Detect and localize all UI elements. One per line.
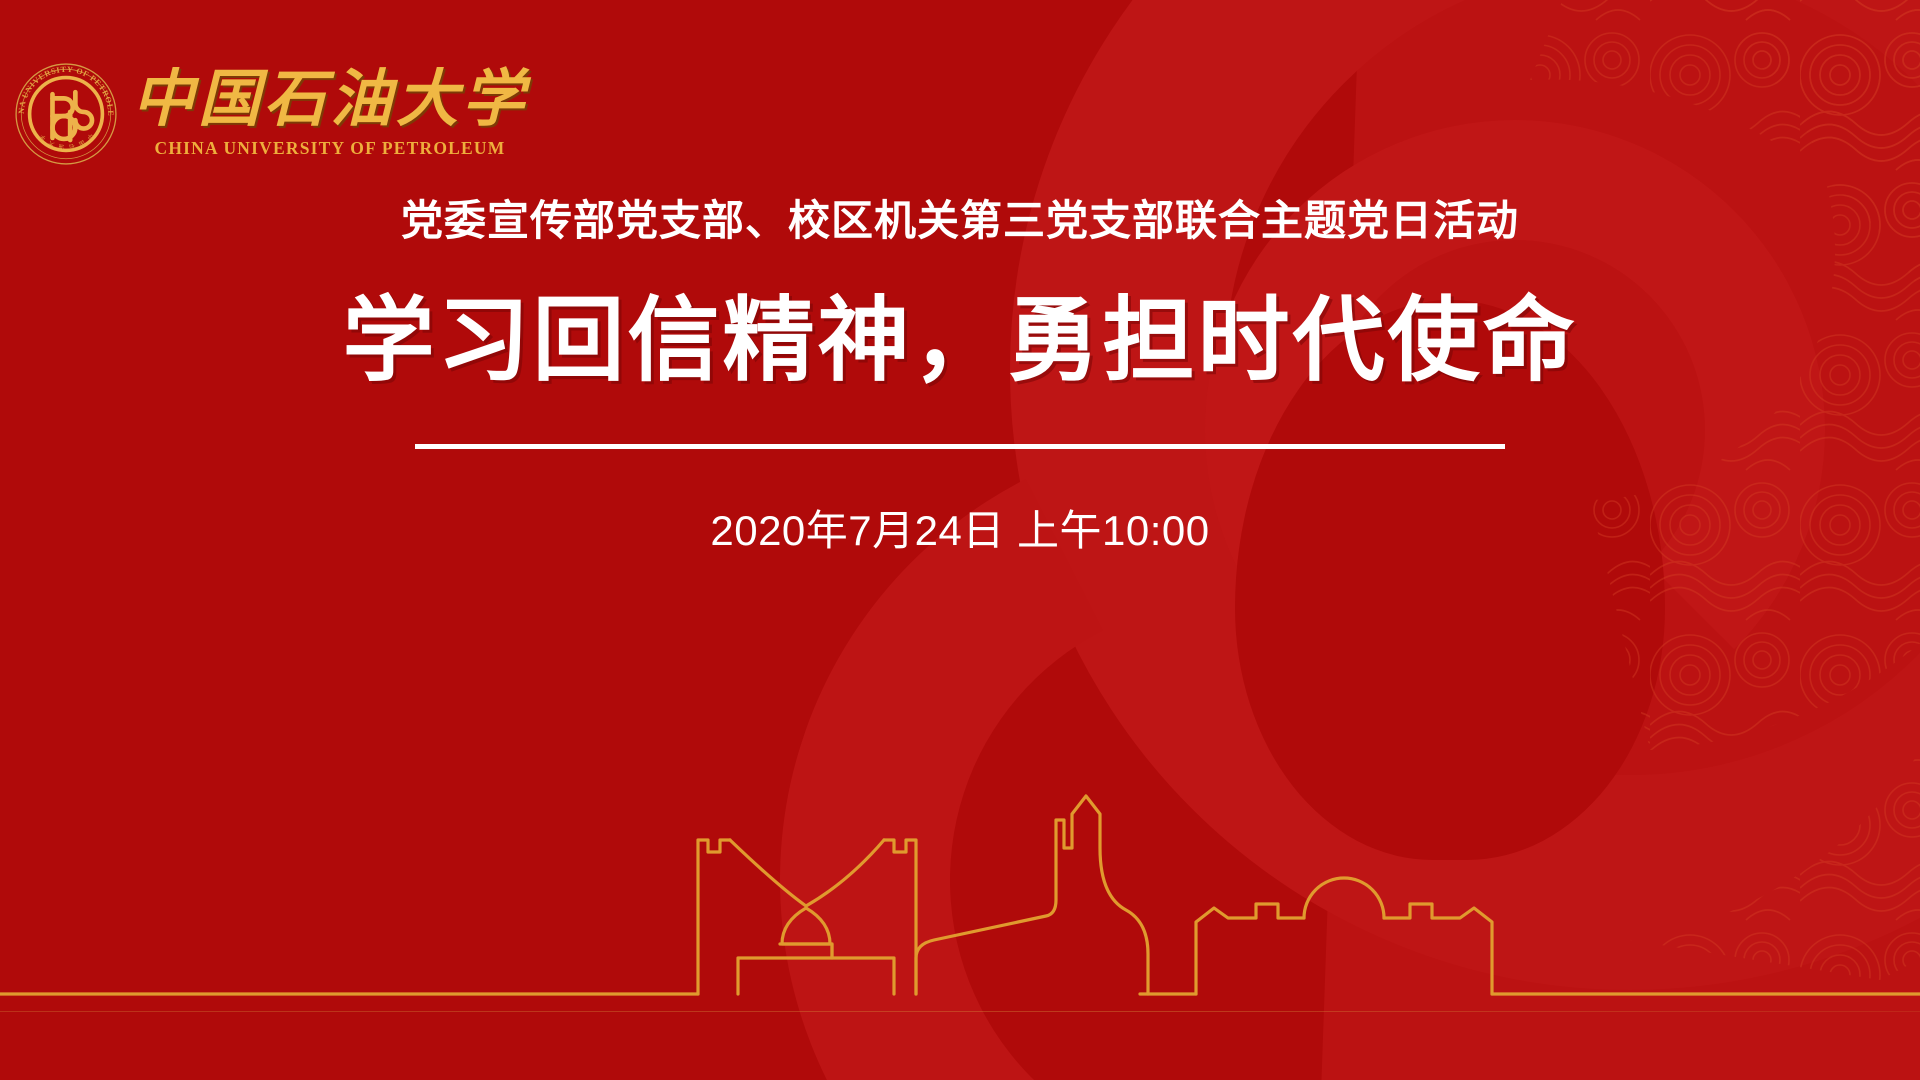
headline-block: 党委宣传部党支部、校区机关第三党支部联合主题党日活动 学习回信精神，勇担时代使命… bbox=[0, 196, 1920, 558]
page-title: 学习回信精神，勇担时代使命 bbox=[0, 292, 1920, 391]
event-datetime: 2020年7月24日 上午10:00 bbox=[0, 497, 1920, 558]
title-divider bbox=[415, 444, 1505, 449]
logo-name-en: CHINA UNIVERSITY OF PETROLEUM bbox=[155, 138, 506, 159]
university-seal-icon: CHINA UNIVERSITY OF PETROLEUM 中 国 石 油 大 … bbox=[14, 62, 118, 166]
logo-name-cn: 中国石油大学 bbox=[132, 69, 528, 131]
logo-wordmark: 中国石油大学 CHINA UNIVERSITY OF PETROLEUM bbox=[132, 69, 528, 159]
event-poster-slide: CHINA UNIVERSITY OF PETROLEUM 中 国 石 油 大 … bbox=[0, 0, 1920, 1080]
university-logo: CHINA UNIVERSITY OF PETROLEUM 中 国 石 油 大 … bbox=[14, 62, 528, 166]
ground-baseline bbox=[0, 1011, 1920, 1012]
event-subtitle: 党委宣传部党支部、校区机关第三党支部联合主题党日活动 bbox=[0, 196, 1920, 246]
